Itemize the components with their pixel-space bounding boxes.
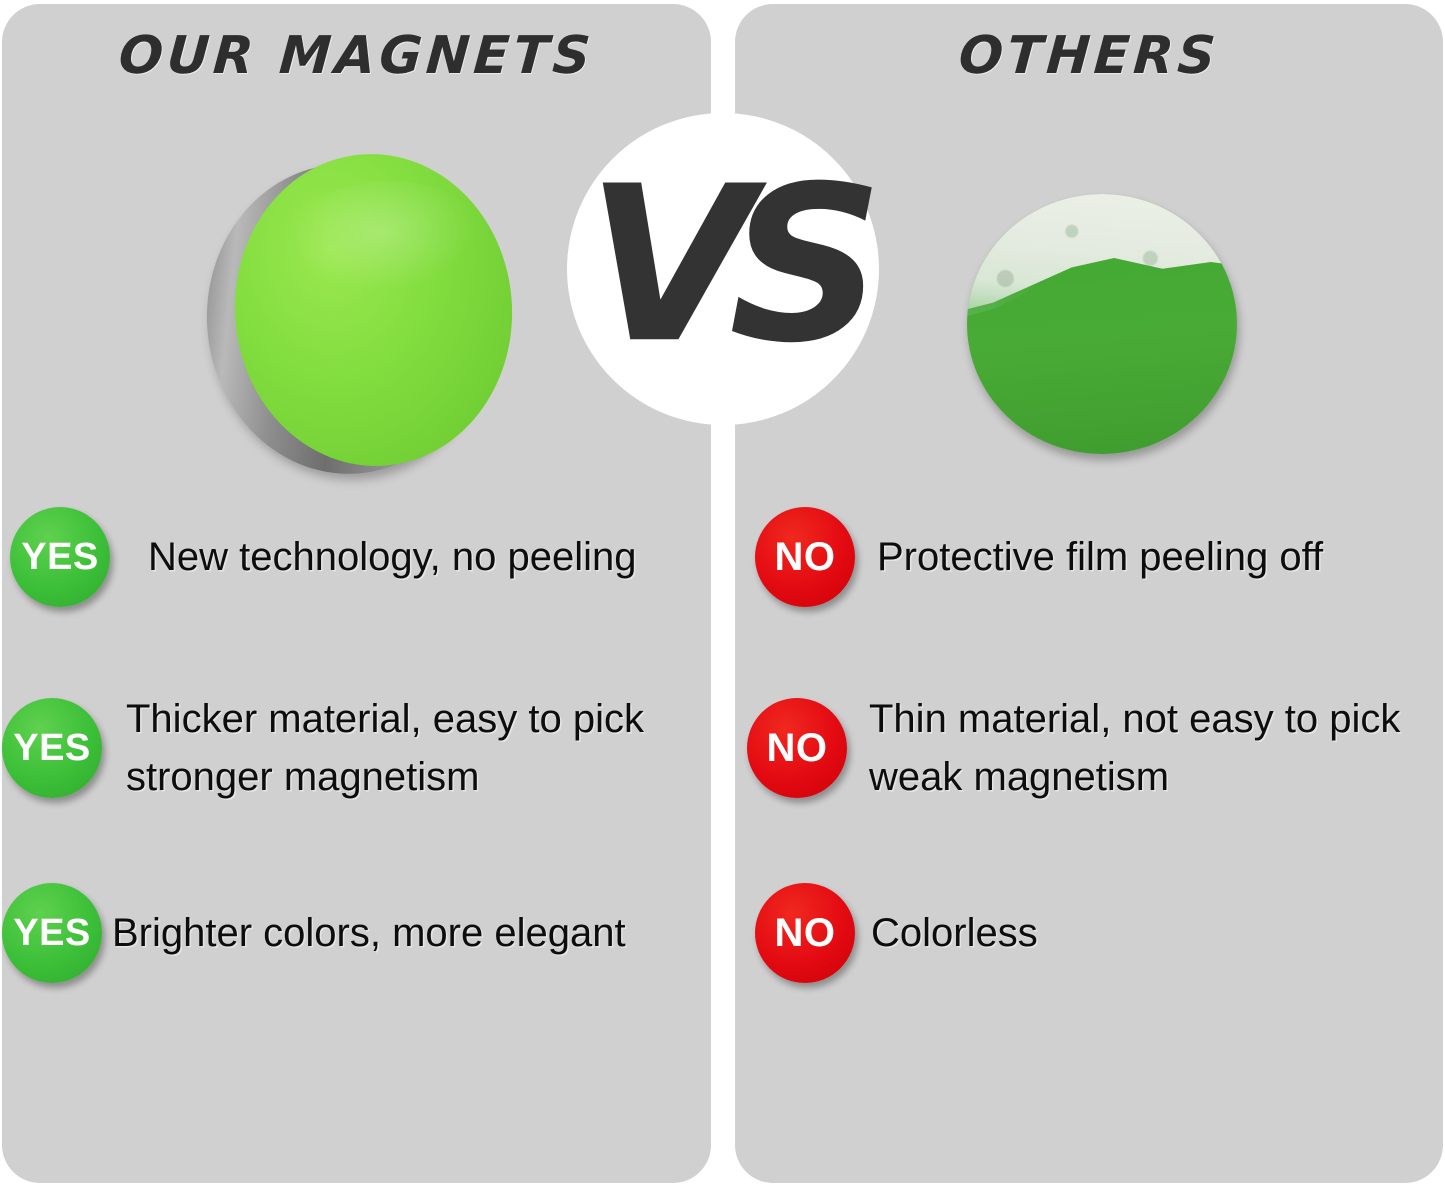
feature-text: Thicker material, easy to pick stronger … — [126, 690, 644, 806]
feature-row: NO Colorless — [735, 878, 1443, 988]
feature-text: Colorless — [871, 904, 1038, 962]
page-title-our-magnets: OUR MAGNETS — [0, 26, 713, 86]
feature-list-our-magnets: YES New technology, no peeling YES Thick… — [2, 502, 711, 988]
yes-badge-icon: YES — [2, 698, 102, 798]
peeling-film-edge — [967, 194, 1237, 329]
feature-row: YES Brighter colors, more elegant — [2, 878, 711, 988]
comparison-infographic: OUR MAGNETS YES New technology, no peeli… — [0, 0, 1445, 1187]
no-badge-icon: NO — [755, 883, 855, 983]
feature-text: Brighter colors, more elegant — [112, 904, 626, 962]
yes-badge-icon: YES — [10, 507, 110, 607]
vs-label: VS — [567, 157, 879, 372]
feature-text: Thin material, not easy to pick weak mag… — [869, 690, 1400, 806]
feature-text: New technology, no peeling — [148, 528, 636, 586]
magnet-disc-bad — [967, 194, 1237, 454]
feature-list-others: NO Protective film peeling off NO Thin m… — [735, 502, 1443, 988]
feature-row: YES New technology, no peeling — [2, 502, 711, 612]
feature-text: Protective film peeling off — [877, 528, 1323, 586]
no-badge-icon: NO — [747, 698, 847, 798]
magnet-sheen — [284, 175, 481, 298]
feature-row: NO Protective film peeling off — [735, 502, 1443, 612]
no-badge-icon: NO — [755, 507, 855, 607]
vs-badge: VS — [567, 113, 879, 425]
feature-row: NO Thin material, not easy to pick weak … — [735, 690, 1443, 806]
magnet-disc-good — [207, 154, 497, 474]
feature-row: YES Thicker material, easy to pick stron… — [2, 690, 711, 806]
page-title-others: OTHERS — [733, 26, 1445, 86]
yes-badge-icon: YES — [2, 883, 102, 983]
magnet-green-disc — [967, 194, 1237, 454]
